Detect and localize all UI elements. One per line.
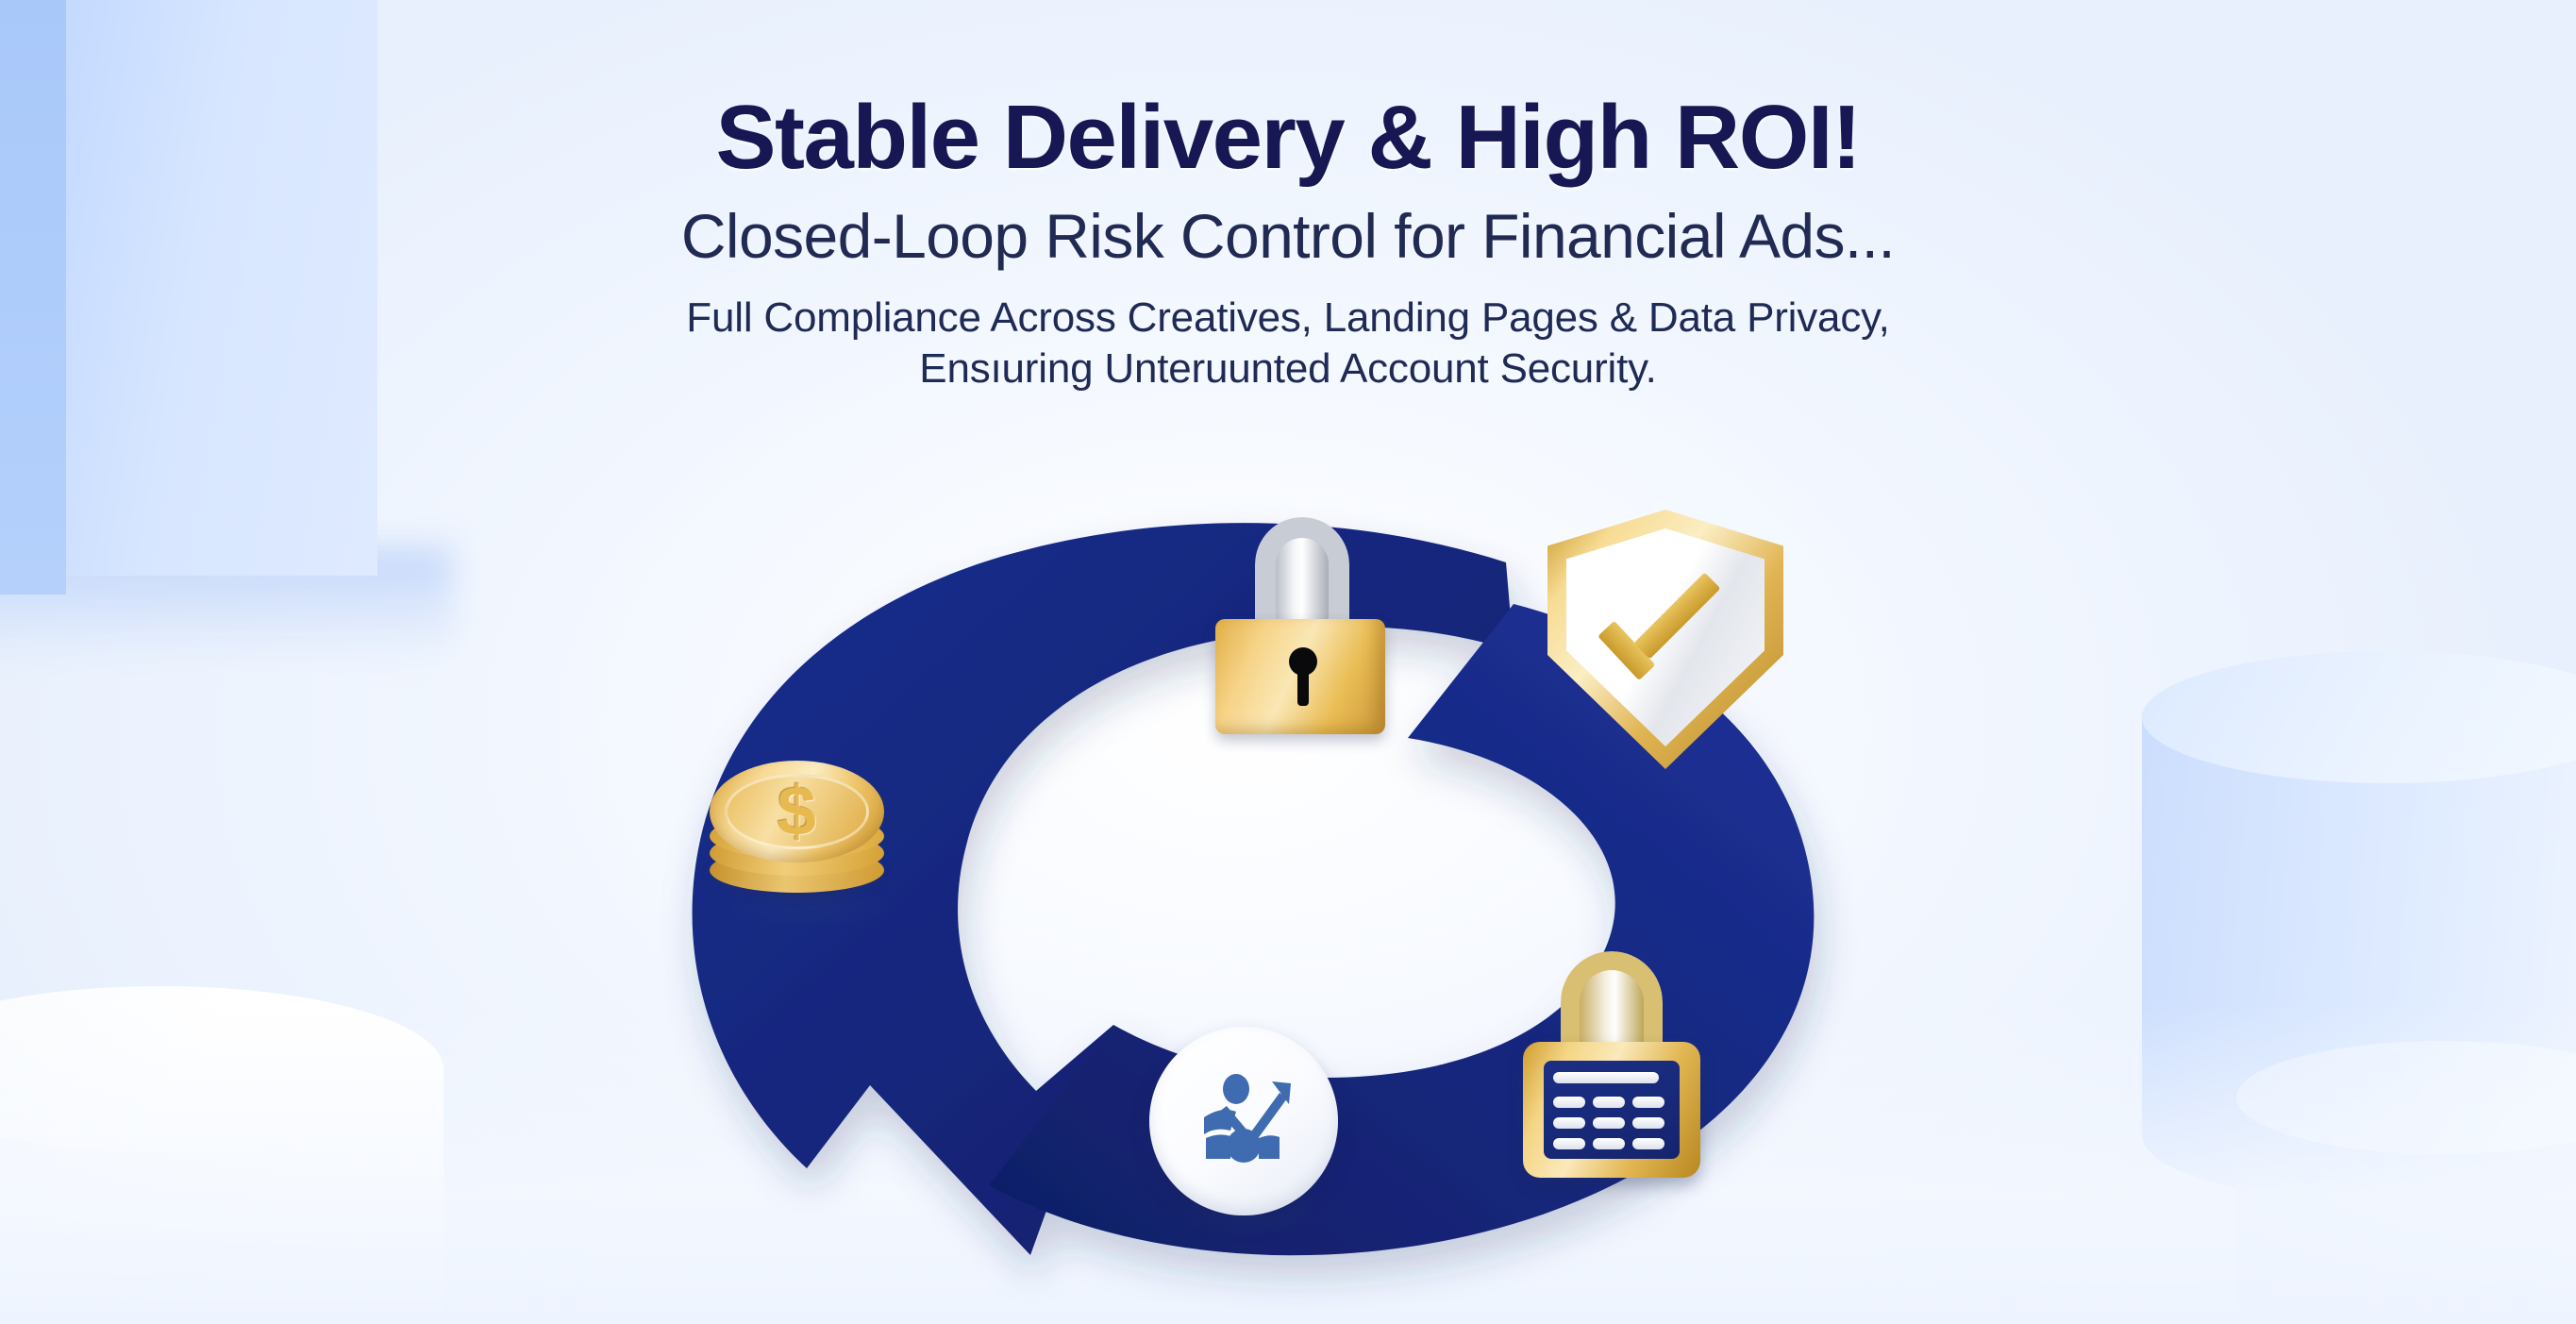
marketing-banner: Stable Delivery & High ROI! Closed-Loop … bbox=[0, 0, 2576, 1324]
padlock-body bbox=[1215, 619, 1385, 734]
keypad-padlock-shackle bbox=[1561, 951, 1663, 1055]
coin-top-face: $ bbox=[710, 761, 884, 863]
padlock-keyhole bbox=[1289, 647, 1317, 676]
analytics-growth-glyph bbox=[1191, 1068, 1296, 1174]
keypad-display bbox=[1553, 1072, 1659, 1083]
keypad-key bbox=[1632, 1138, 1664, 1149]
keypad-key bbox=[1593, 1117, 1625, 1129]
page-subtitle: Closed-Loop Risk Control for Financial A… bbox=[0, 202, 2576, 271]
keypad-key bbox=[1632, 1117, 1664, 1129]
keypad-padlock-body bbox=[1523, 1042, 1700, 1178]
headline-block: Stable Delivery & High ROI! Closed-Loop … bbox=[0, 91, 2576, 394]
support-text-line-1: Full Compliance Across Creatives, Landin… bbox=[0, 293, 2576, 344]
keypad-padlock-icon bbox=[1517, 951, 1706, 1178]
keypad-panel bbox=[1544, 1061, 1680, 1159]
dollar-sign-glyph: $ bbox=[710, 774, 884, 849]
keypad-key bbox=[1593, 1097, 1625, 1108]
gold-coin-stack-icon: $ bbox=[710, 755, 898, 915]
keypad-key bbox=[1553, 1097, 1585, 1108]
keypad-key bbox=[1593, 1138, 1625, 1149]
page-title: Stable Delivery & High ROI! bbox=[0, 91, 2576, 185]
keypad-key bbox=[1553, 1138, 1585, 1149]
keypad-key bbox=[1632, 1097, 1664, 1108]
keypad-key bbox=[1553, 1117, 1585, 1129]
support-text: Full Compliance Across Creatives, Landin… bbox=[0, 293, 2576, 394]
checkmark-glyph bbox=[1604, 593, 1729, 662]
support-text-line-2: Ensıuring Unteruunted Account Security. bbox=[0, 344, 2576, 394]
analytics-growth-icon bbox=[1149, 1027, 1338, 1215]
gold-padlock-icon bbox=[1211, 517, 1395, 734]
shield-check-icon bbox=[1547, 510, 1783, 769]
padlock-shackle bbox=[1255, 517, 1349, 630]
